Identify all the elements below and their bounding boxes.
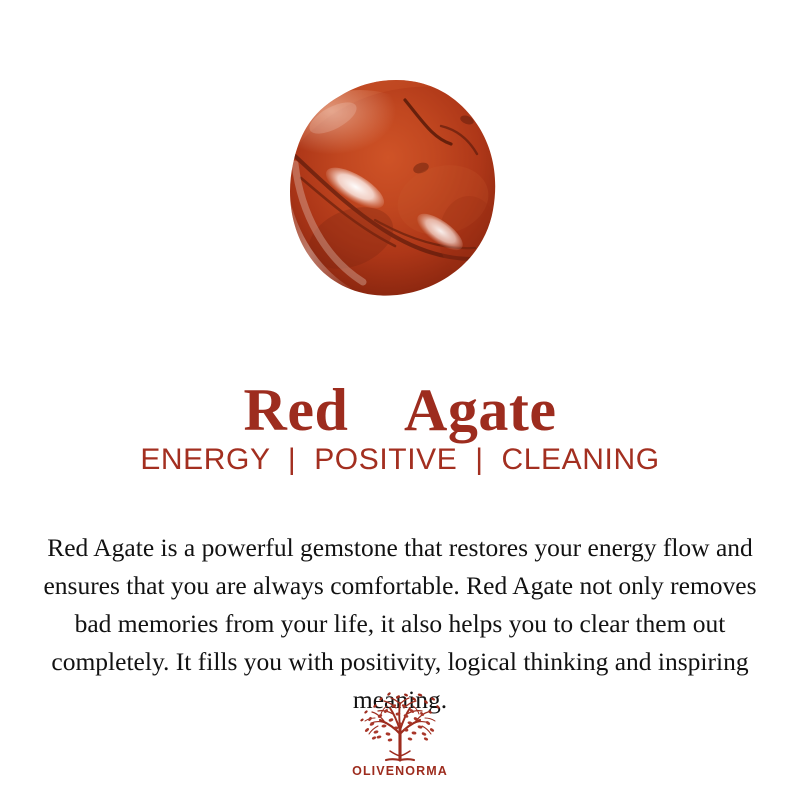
product-image-container [0, 0, 800, 320]
brand-logo: OLIVENORMA [0, 690, 800, 778]
page-title: Red Agate [0, 377, 800, 443]
gemstone-body [265, 60, 510, 304]
gemstone-image [255, 60, 555, 310]
keyword-tagline: ENERGY | POSITIVE | CLEANING [0, 441, 800, 479]
brand-name: OLIVENORMA [352, 764, 448, 778]
product-info-card: Red Agate ENERGY | POSITIVE | CLEANING R… [0, 0, 800, 800]
tree-logo-icon [354, 690, 446, 762]
